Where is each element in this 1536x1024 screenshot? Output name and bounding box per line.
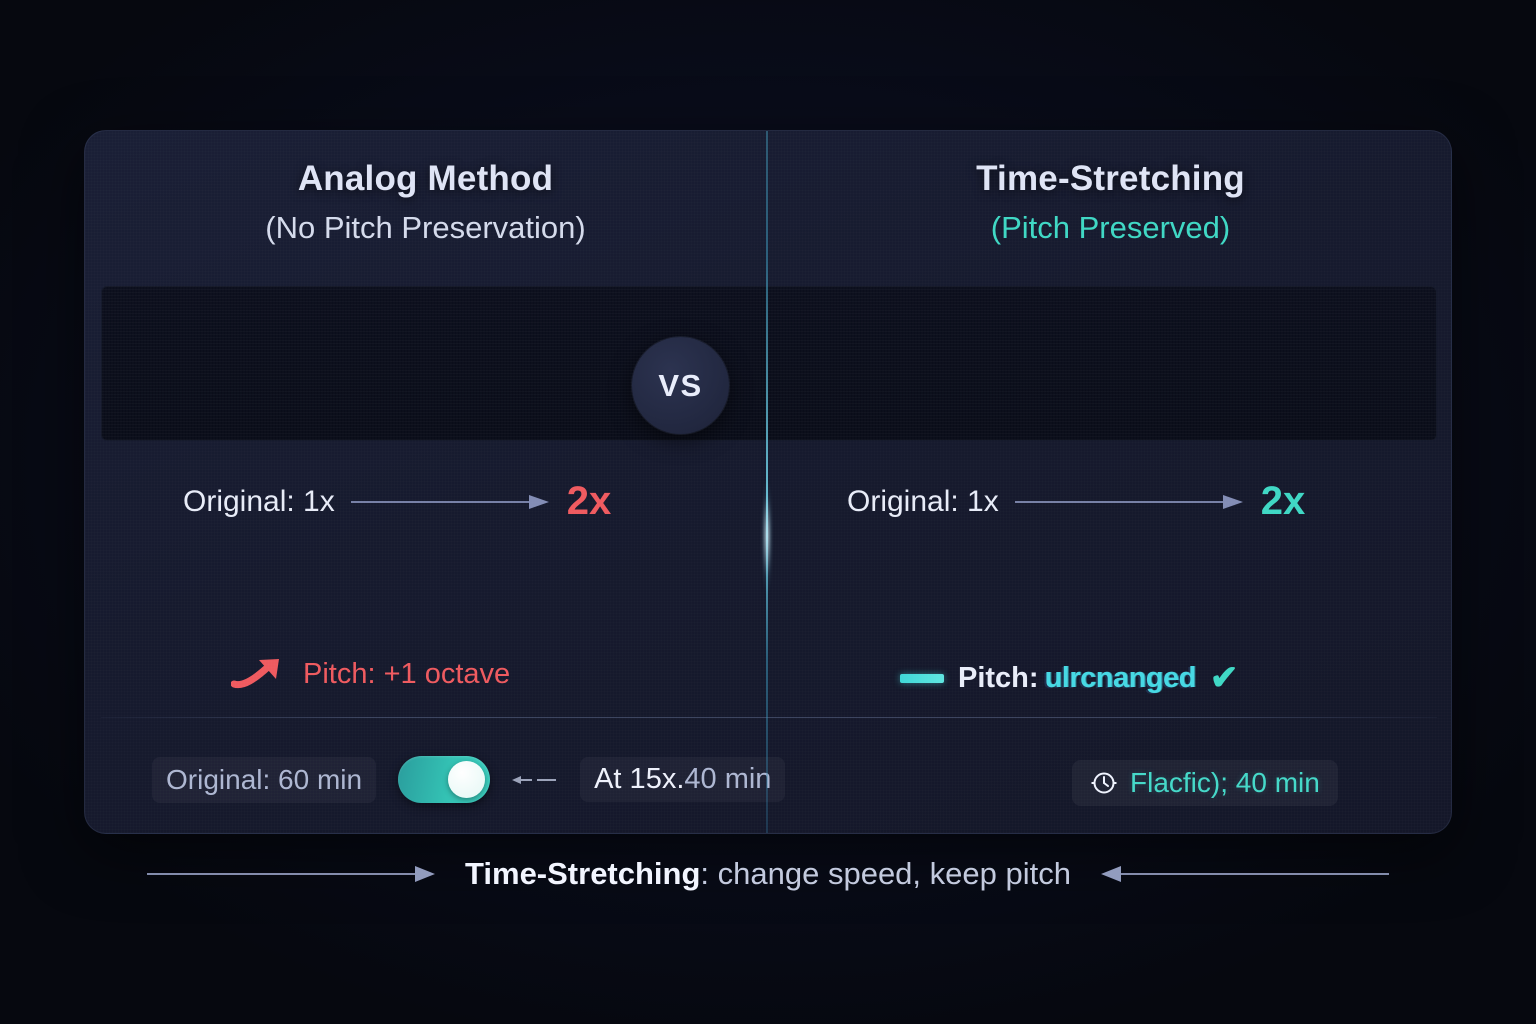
left-target-speed-value: 2x (567, 479, 612, 524)
footer-bold: Time-Stretching (465, 856, 700, 891)
clock-icon (1090, 769, 1118, 797)
at-speed-duration: 40 min (684, 763, 771, 795)
at-speed-rate: 5x. (646, 763, 685, 795)
vs-badge: VS (632, 337, 729, 434)
left-panel-header: Analog Method (No Pitch Preservation) (85, 159, 766, 246)
right-speed-row: Original: 1x 2x (847, 479, 1305, 524)
bottom-right-status: Flacfic); 40 min (1072, 760, 1338, 806)
up-arrow-icon (231, 657, 289, 691)
flat-dash-icon (900, 674, 944, 683)
right-panel-subtitle: (Pitch Preserved) (768, 210, 1452, 246)
original-waveform-graphic (102, 287, 1436, 440)
toggle-knob[interactable] (448, 761, 485, 798)
left-speed-row: Original: 1x 2x (183, 479, 611, 524)
right-original-speed-label: Original: 1x (847, 485, 999, 519)
left-panel-title: Analog Method (85, 159, 766, 199)
footer-rest: : change speed, keep pitch (700, 856, 1071, 891)
check-icon: ✔ (1210, 661, 1239, 695)
bottom-left-status: Original: 60 min At 15x.40 min (152, 756, 785, 803)
right-panel-title: Time-Stretching (768, 159, 1452, 199)
at-speed-label: At 15x.40 min (580, 757, 785, 802)
footer-text: Time-Stretching: change speed, keep pitc… (465, 856, 1071, 892)
original-waveform-strip (101, 286, 1437, 441)
right-target-speed-value: 2x (1261, 479, 1306, 524)
right-pitch-value: ulrcnanged (1045, 662, 1196, 695)
connector-icon (512, 773, 558, 787)
right-panel-header: Time-Stretching (Pitch Preserved) (768, 159, 1452, 246)
speed-toggle[interactable] (398, 756, 490, 803)
arrow-left-icon (1099, 863, 1399, 885)
right-pitch-label: Pitch: (958, 662, 1039, 695)
footer-caption: Time-Stretching: change speed, keep pitc… (0, 856, 1536, 892)
comparison-card: Analog Method (No Pitch Preservation) Ti… (84, 130, 1452, 834)
at-speed-prefix: At 1 (594, 763, 646, 795)
right-status-label: Flacfic); 40 min (1130, 767, 1320, 799)
left-panel-subtitle: (No Pitch Preservation) (85, 210, 766, 246)
arrow-right-icon (1015, 492, 1245, 512)
original-duration-label: Original: 60 min (152, 757, 376, 803)
page-root: Analog Method (No Pitch Preservation) Ti… (0, 0, 1536, 1024)
divider-glow (761, 476, 773, 596)
left-pitch-label: Pitch: +1 octave (303, 658, 510, 691)
left-pitch-row: Pitch: +1 octave (231, 657, 510, 691)
horizontal-divider (101, 717, 1437, 718)
right-pitch-row: Pitch: ulrcnanged ✔ (900, 661, 1238, 695)
vs-label: VS (658, 368, 702, 404)
left-original-speed-label: Original: 1x (183, 485, 335, 519)
arrow-right-icon (137, 863, 437, 885)
arrow-right-icon (351, 492, 551, 512)
